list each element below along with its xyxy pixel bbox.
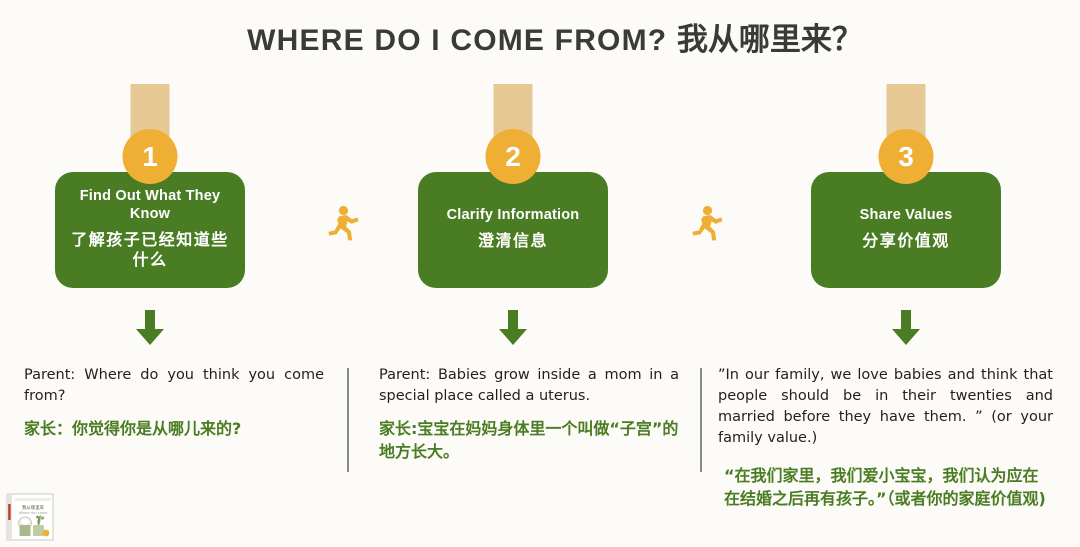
running-person-icon [318,200,364,246]
column-divider [347,368,349,472]
step-number-badge-3: 3 [879,129,934,184]
note-column-3: ”In our family, we love babies and think… [718,365,1053,511]
step-card-1[interactable]: 1 Find Out What They Know 了解孩子已经知道些什么 [39,84,261,299]
arrow-down-icon [889,310,923,346]
svg-text:我从哪里来: 我从哪里来 [22,504,45,511]
note-english-3: ”In our family, we love babies and think… [718,365,1053,449]
step-card-body-3: Share Values 分享价值观 [811,172,1001,288]
step-title-zh-2: 澄清信息 [478,232,548,252]
note-chinese-3: “在我们家里，我们爱小宝宝，我们认为应在在结婚之后再有孩子。”（或者你的家庭价值… [718,465,1053,510]
step-number-badge-1: 1 [123,129,178,184]
page-title-chinese: 我从哪里来？ [677,22,863,57]
page-title: WHERE DO I COME FROM? 我从哪里来？ [0,14,1080,59]
step-number-badge-2: 2 [486,129,541,184]
steps-row: 1 Find Out What They Know 了解孩子已经知道些什么 2 … [0,84,1080,299]
step-card-2[interactable]: 2 Clarify Information 澄清信息 [402,84,624,299]
step-title-en-1: Find Out What They Know [63,188,237,223]
note-column-1: Parent: Where do you think you come from… [24,365,324,441]
note-chinese-2: 家长:宝宝在妈妈身体里一个叫做“子宫”的地方长大。 [379,418,679,463]
note-column-2: Parent: Babies grow inside a mom in a sp… [379,365,679,463]
svg-text:Where do I come: Where do I come [19,511,48,515]
note-english-1: Parent: Where do you think you come from… [24,365,324,407]
running-person-icon [682,200,728,246]
book-cover-thumbnail: 我从哪里来 Where do I come [6,492,56,542]
page-title-english: WHERE DO I COME FROM? [247,24,667,57]
note-english-2: Parent: Babies grow inside a mom in a sp… [379,365,679,407]
column-divider [700,368,702,472]
note-chinese-1: 家长：你觉得你是从哪儿来的? [24,418,324,441]
arrow-down-icon [496,310,530,346]
step-card-3[interactable]: 3 Share Values 分享价值观 [795,84,1017,299]
arrow-down-icon [133,310,167,346]
step-title-en-2: Clarify Information [447,207,580,225]
step-card-body-2: Clarify Information 澄清信息 [418,172,608,288]
notes-row: Parent: Where do you think you come from… [0,365,1080,545]
step-card-body-1: Find Out What They Know 了解孩子已经知道些什么 [55,172,245,288]
step-title-zh-1: 了解孩子已经知道些什么 [63,231,237,272]
step-title-en-3: Share Values [860,207,953,225]
step-title-zh-3: 分享价值观 [862,232,950,252]
